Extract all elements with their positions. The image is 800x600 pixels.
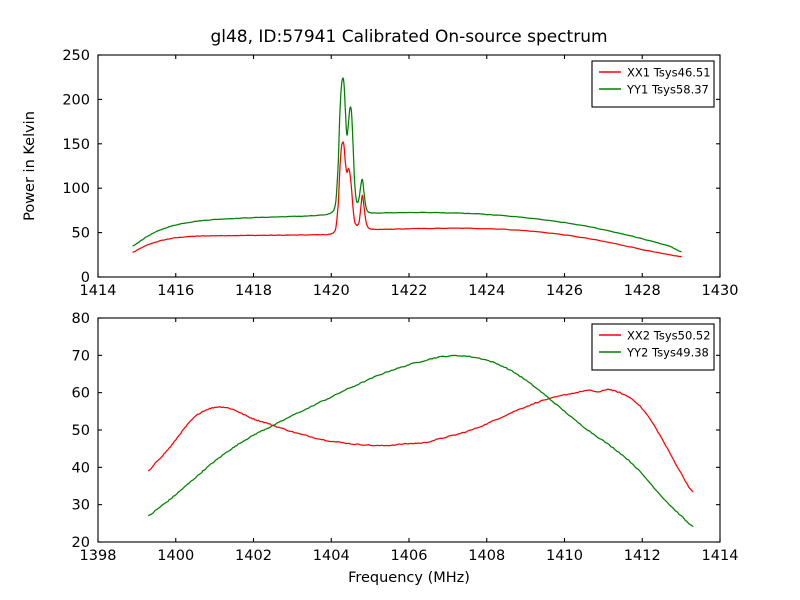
legend-label: XX1 Tsys46.51: [627, 66, 711, 80]
legend[interactable]: XX2 Tsys50.52YY2 Tsys49.38: [592, 324, 714, 370]
plot-title: gl48, ID:57941 Calibrated On-source spec…: [210, 27, 607, 47]
figure-canvas: 1414141614181420142214241426142814300501…: [0, 0, 800, 600]
x-tick-label: 1424: [468, 283, 505, 299]
x-tick-label: 1406: [391, 548, 428, 564]
legend-label: YY1 Tsys58.37: [626, 83, 709, 97]
x-tick-label: 1414: [702, 548, 739, 564]
x-tick-label: 1400: [157, 548, 194, 564]
x-tick-label: 1412: [624, 548, 661, 564]
x-tick-label: 1410: [546, 548, 583, 564]
x-tick-label: 1420: [313, 283, 350, 299]
legend[interactable]: XX1 Tsys46.51YY1 Tsys58.37: [592, 61, 714, 107]
trace-yy2: [149, 355, 693, 526]
y-tick-label: 100: [62, 181, 90, 197]
y-tick-label: 0: [81, 270, 90, 286]
x-tick-label: 1404: [313, 548, 350, 564]
panel-bottom-panel: 1398140014021404140614081410141214142030…: [72, 311, 739, 586]
y-axis-label: Power in Kelvin: [22, 111, 38, 221]
spectrum-plot: 1414141614181420142214241426142814300501…: [0, 0, 800, 600]
y-tick-label: 250: [62, 48, 90, 64]
x-tick-label: 1418: [235, 283, 272, 299]
y-tick-label: 60: [72, 386, 90, 402]
x-tick-label: 1408: [468, 548, 505, 564]
trace-xx2: [149, 389, 693, 491]
y-tick-label: 50: [72, 226, 90, 242]
y-tick-label: 150: [62, 137, 90, 153]
panel-top-panel: 1414141614181420142214241426142814300501…: [22, 27, 738, 299]
x-tick-label: 1416: [157, 283, 194, 299]
y-tick-label: 30: [72, 498, 90, 514]
x-tick-label: 1426: [546, 283, 583, 299]
trace-xx1: [133, 142, 681, 257]
x-tick-label: 1422: [391, 283, 428, 299]
x-tick-label: 1402: [235, 548, 272, 564]
y-tick-label: 80: [72, 311, 90, 327]
y-tick-label: 200: [62, 92, 90, 108]
y-tick-label: 70: [72, 348, 90, 364]
x-axis-label: Frequency (MHz): [348, 570, 470, 586]
legend-label: YY2 Tsys49.38: [626, 346, 709, 360]
y-tick-label: 50: [72, 423, 90, 439]
legend-label: XX2 Tsys50.52: [627, 329, 711, 343]
y-tick-label: 20: [72, 535, 90, 551]
x-tick-label: 1430: [702, 283, 739, 299]
y-tick-label: 40: [72, 460, 90, 476]
x-tick-label: 1428: [624, 283, 661, 299]
